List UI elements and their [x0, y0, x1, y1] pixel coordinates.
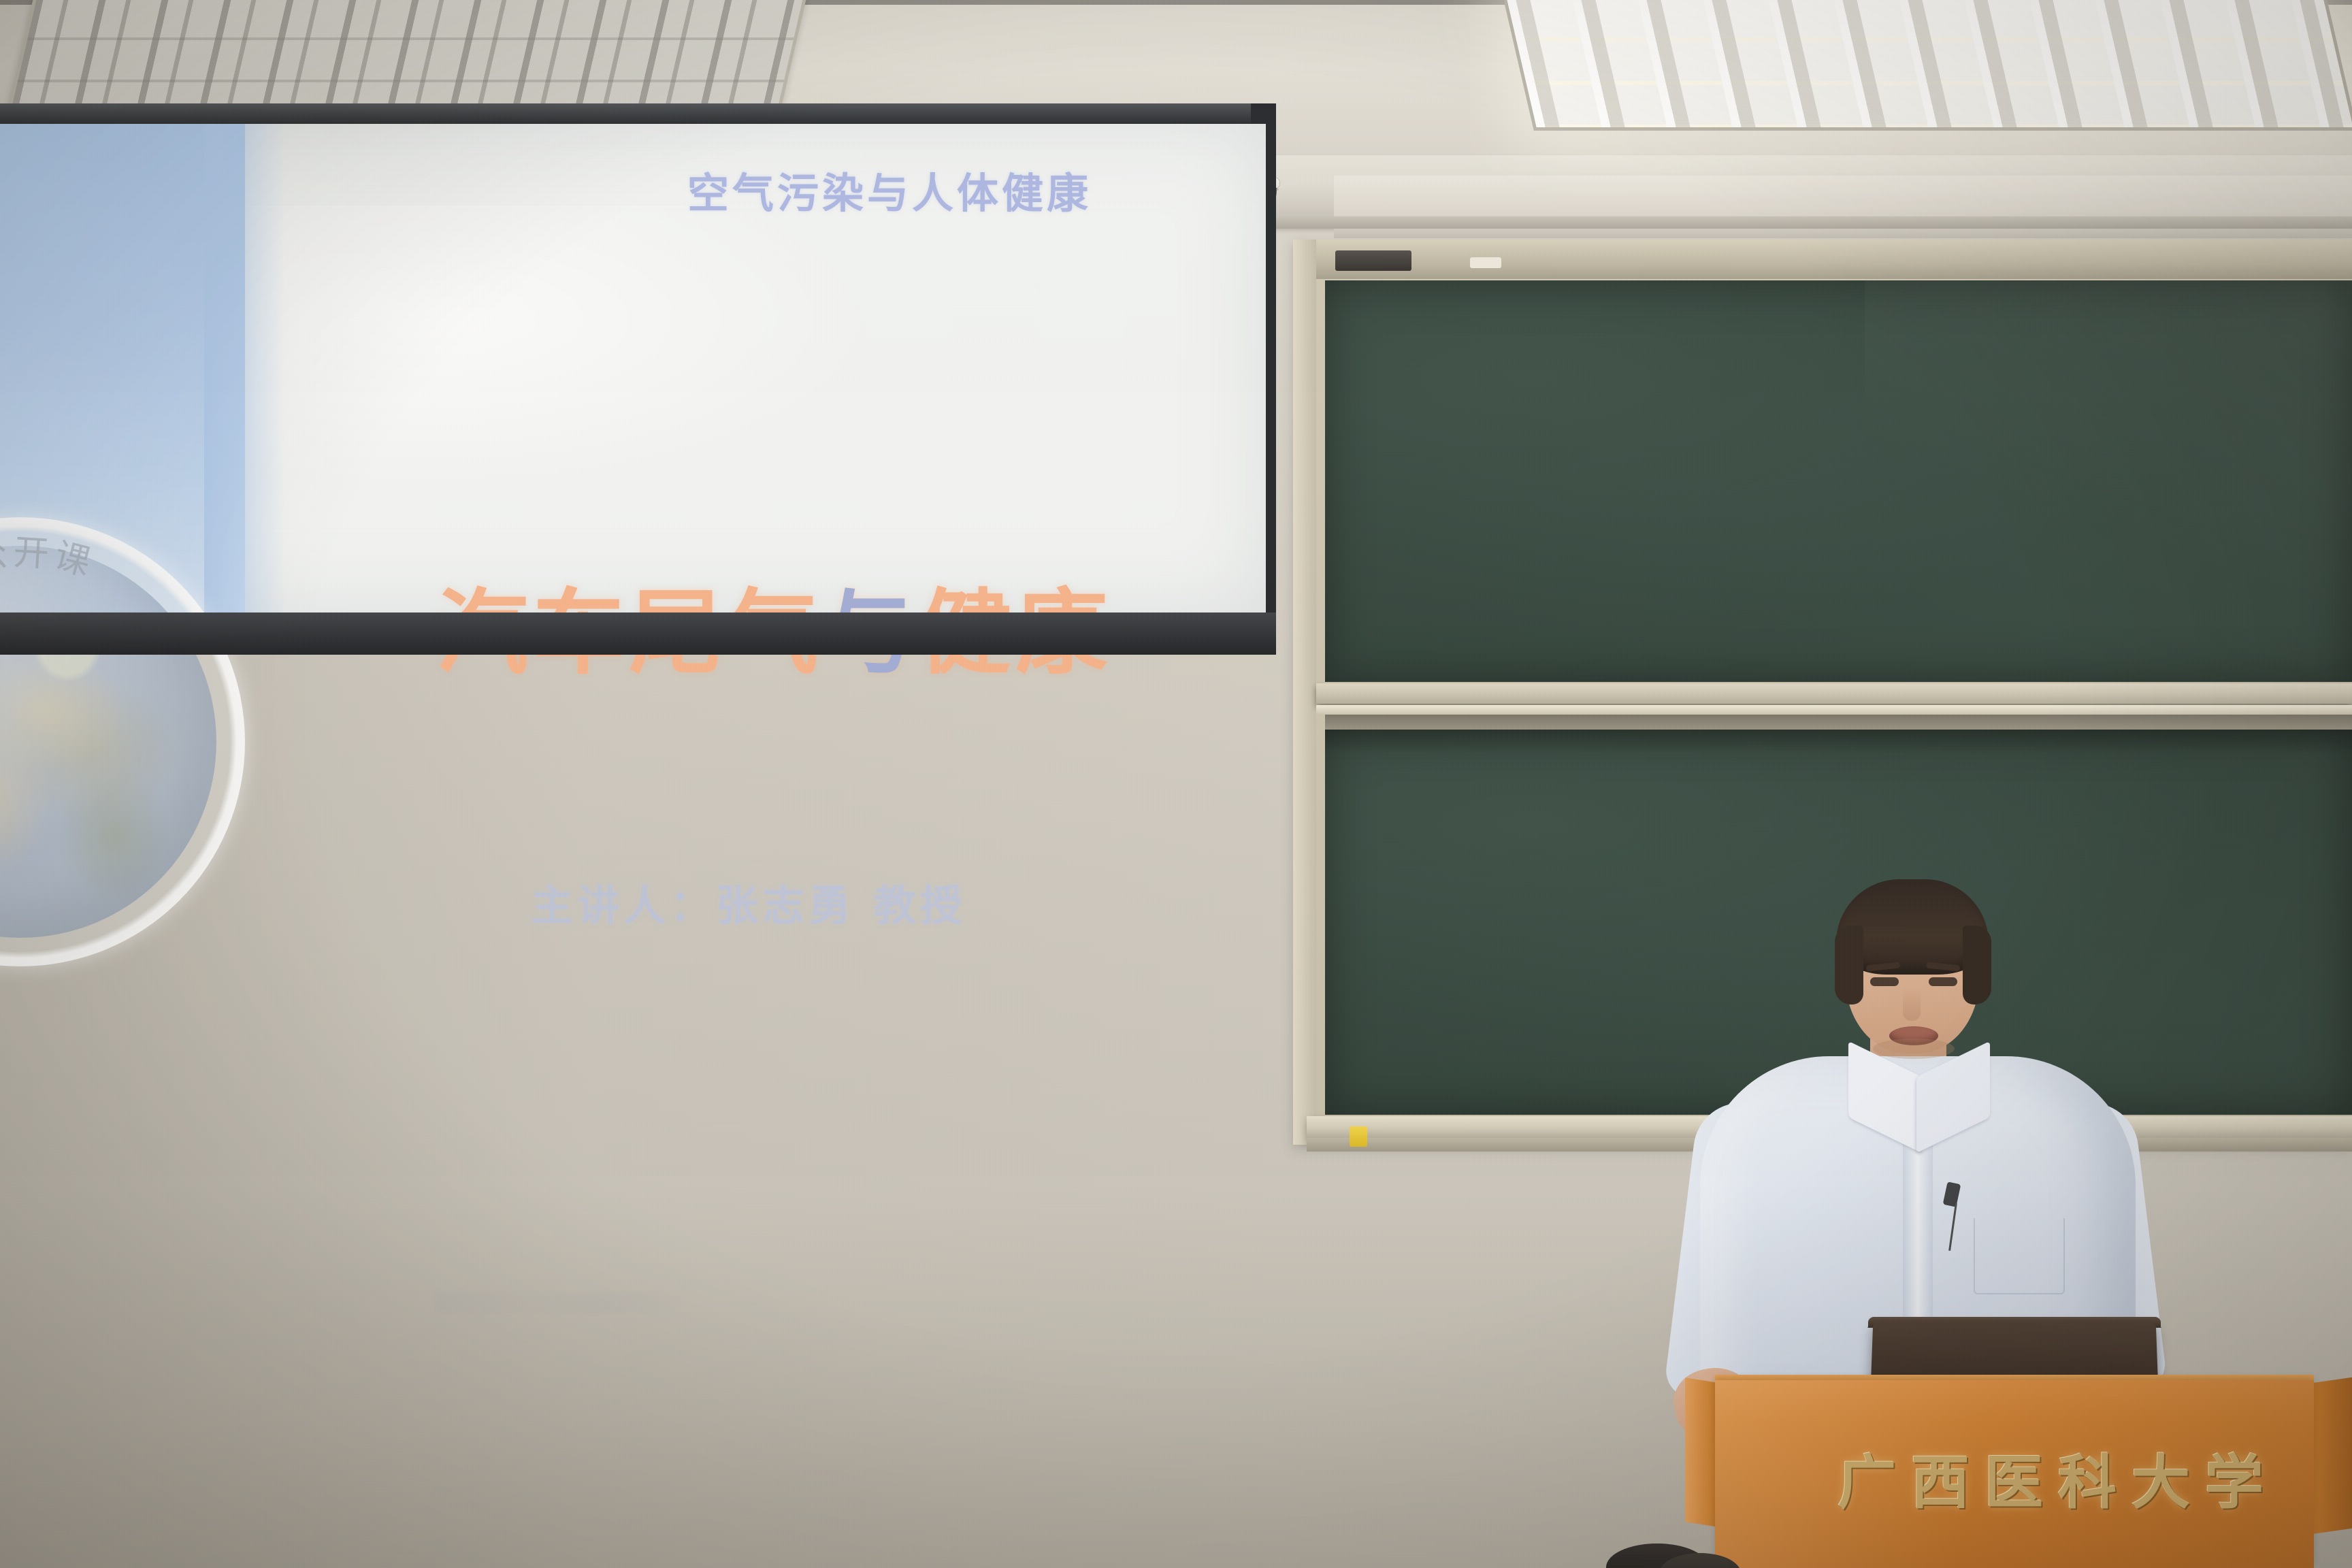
- chalkboard-top-rail: [1293, 240, 2352, 279]
- podium-university-name: 广西医科大学: [1837, 1435, 2273, 1520]
- presenter-nose: [1903, 988, 1921, 1021]
- presenter-eye-right: [1929, 977, 1957, 986]
- slide-footer-smudge: [436, 1293, 681, 1312]
- slide-watermark: 医科大学视频公开课: [0, 517, 245, 966]
- presenter-hair-side-right: [1963, 926, 1991, 1004]
- ceiling-light-fixture-right: [1501, 0, 2352, 131]
- yellow-chalk-icon[interactable]: [1350, 1126, 1367, 1147]
- shirt-pocket: [1974, 1218, 2065, 1294]
- podium-right-wing: [2311, 1377, 2352, 1534]
- blackboard-eraser-icon[interactable]: [1335, 250, 1411, 271]
- chalkboard-inner-shadow: [1325, 715, 2352, 754]
- screen-bottom-bar: [0, 612, 1276, 655]
- presenter-chin-shadow: [1873, 1039, 1955, 1059]
- lecture-hall-photo: 医科大学视频公开课 空气污染与人体健康 汽车尾气与健康 主讲人：张志勇 教授: [0, 0, 2352, 1568]
- chalk-piece-icon[interactable]: [1470, 257, 1501, 268]
- slide-header-text: 空气污染与人体健康: [687, 159, 1092, 220]
- podium-left-wing: [1685, 1377, 1718, 1527]
- screen-top-bar: [0, 103, 1276, 124]
- chalkboard-glare: [1865, 280, 2352, 682]
- chalkboard-divider-lip: [1316, 705, 2352, 715]
- chalkboard-divider-rail: [1316, 683, 2352, 704]
- presenter-eye-left: [1870, 977, 1899, 986]
- slide-presenter-text: 主讲人：张志勇 教授: [531, 871, 966, 932]
- ceiling-soffit-right: [1334, 176, 2352, 238]
- presenter-hair-side-left: [1835, 926, 1863, 1004]
- light-louvers-lit-icon: [1505, 0, 2352, 127]
